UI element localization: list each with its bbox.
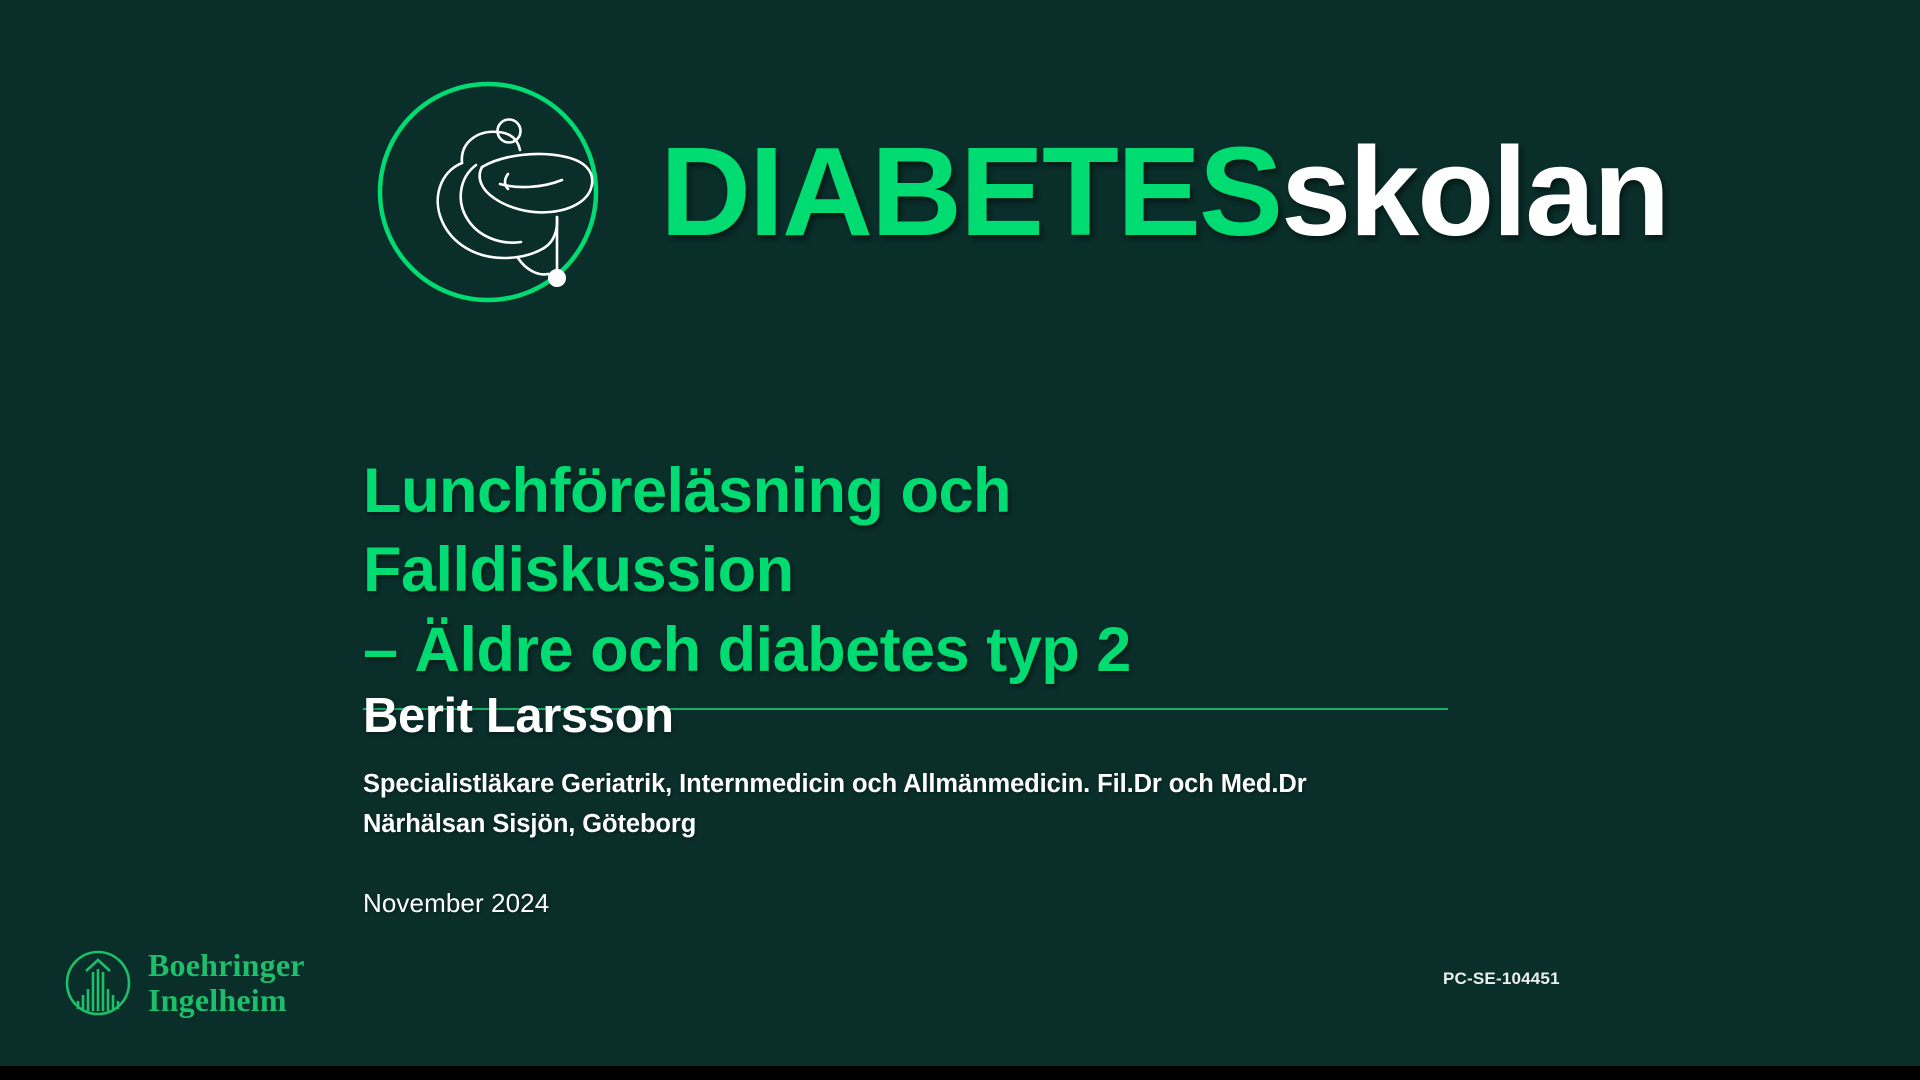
corp-name-line-1: Boehringer — [148, 948, 305, 983]
title-block: Lunchföreläsning och Falldiskussion – Äl… — [363, 452, 1453, 710]
presenter-block: Berit Larsson Specialistläkare Geriatrik… — [363, 690, 1563, 920]
bottom-letterbox-bar — [0, 1066, 1920, 1080]
brand-word-diabetes: DIABETES — [660, 121, 1281, 262]
presenter-affiliation: Närhälsan Sisjön, Göteborg — [363, 804, 1563, 844]
corp-name-line-2: Ingelheim — [148, 983, 305, 1018]
job-code: PC-SE-104451 — [1443, 969, 1560, 989]
diabetesskolan-brand-lockup: DIABETESskolan — [358, 62, 1668, 322]
title-slide: DIABETESskolan Lunchföreläsning och Fall… — [0, 0, 1920, 1066]
presentation-date: November 2024 — [363, 888, 1563, 919]
presenter-role: Specialistläkare Geriatrik, Internmedici… — [363, 764, 1563, 804]
boehringer-ingelheim-wordmark: Boehringer Ingelheim — [148, 948, 305, 1017]
page-title-line-1: Lunchföreläsning och Falldiskussion — [363, 452, 1453, 611]
boehringer-ingelheim-akanthus-icon — [64, 949, 132, 1017]
presenter-name: Berit Larsson — [363, 690, 1563, 744]
page-title: Lunchföreläsning och Falldiskussion – Äl… — [363, 452, 1453, 690]
brand-word-skolan: skolan — [1281, 121, 1668, 262]
pancreas-stomach-circle-icon — [358, 62, 618, 322]
boehringer-ingelheim-logo: Boehringer Ingelheim — [64, 948, 305, 1017]
page-title-line-2: – Äldre och diabetes typ 2 — [363, 611, 1453, 690]
brand-wordmark: DIABETESskolan — [660, 129, 1668, 255]
